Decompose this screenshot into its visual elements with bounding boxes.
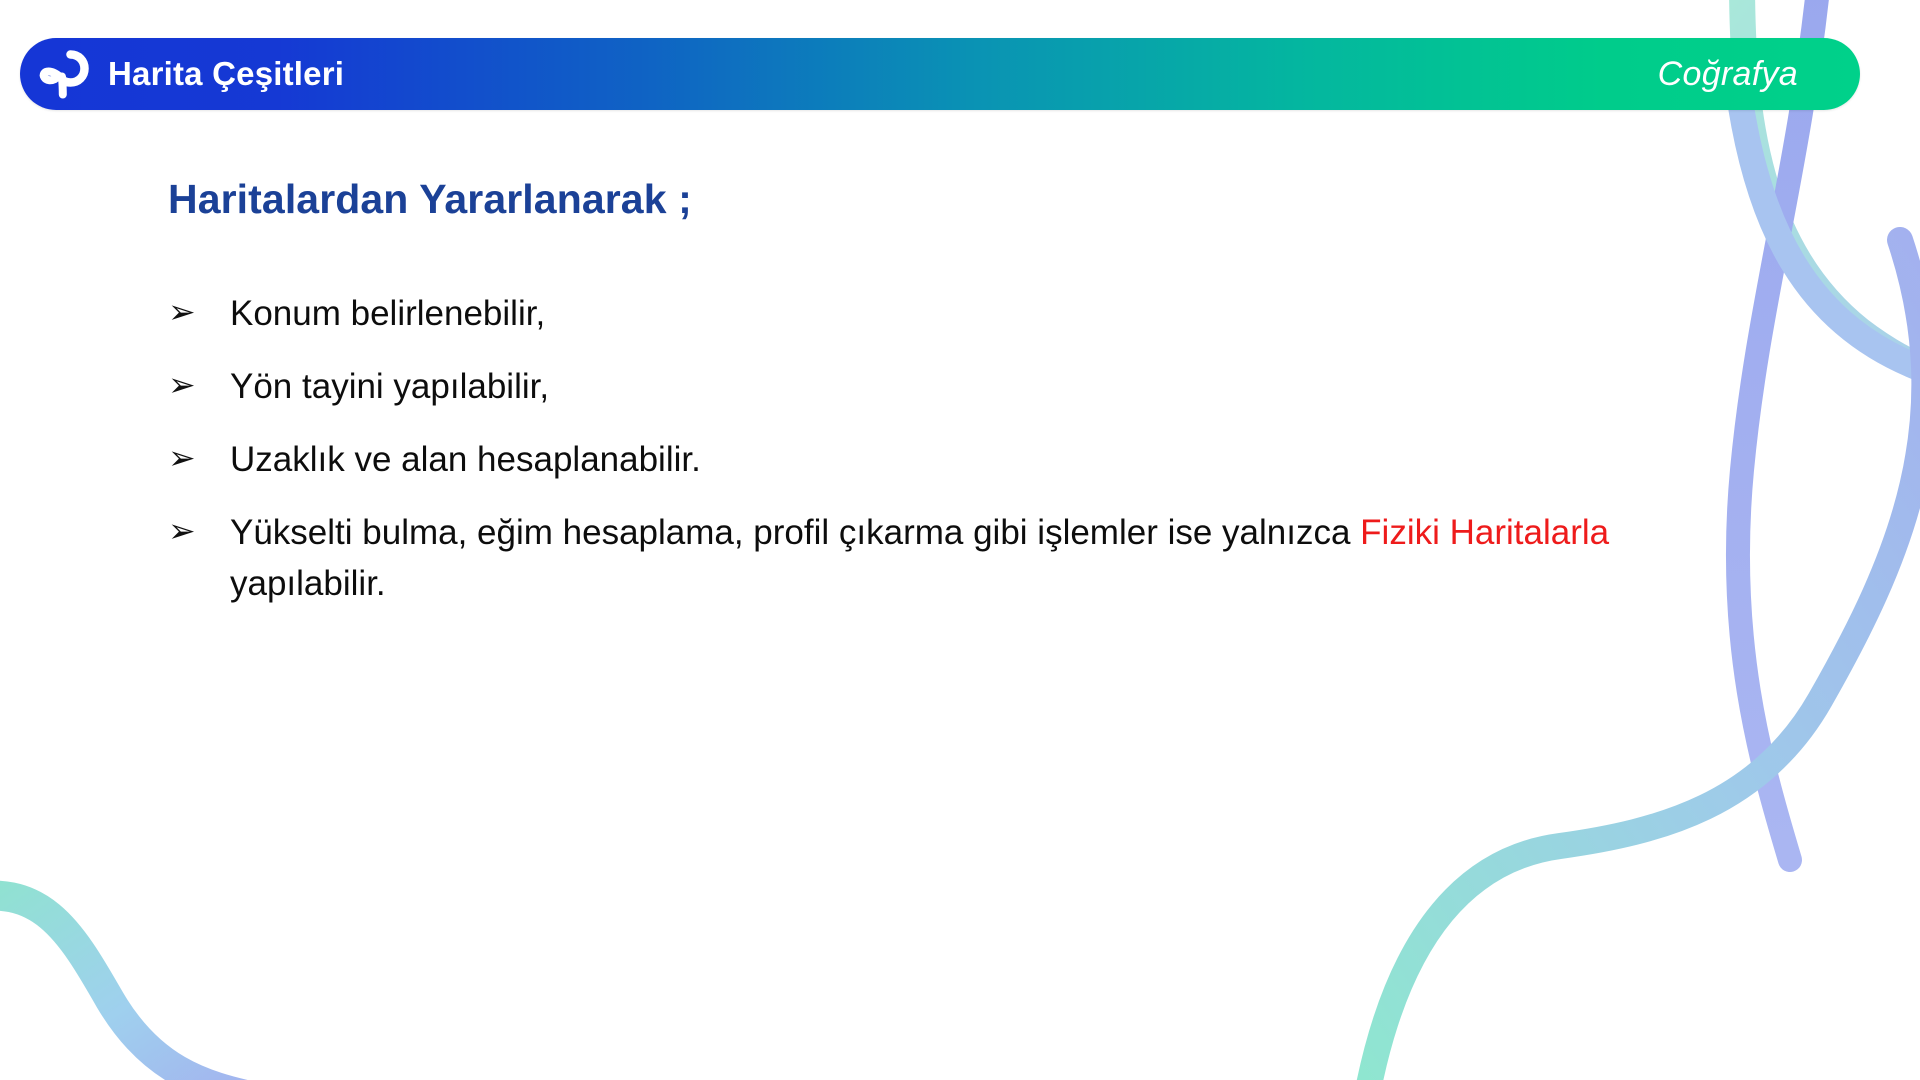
list-item: ➢Uzaklık ve alan hesaplanabilir.: [168, 434, 1758, 485]
bullet-arrow-icon: ➢: [168, 434, 230, 482]
text-run: Yükselti bulma, eğim hesaplama, profil ç…: [230, 513, 1360, 552]
list-item: ➢Yön tayini yapılabilir,: [168, 361, 1758, 412]
slide-content: Haritalardan Yararlanarak ; ➢Konum belir…: [0, 0, 1920, 1080]
list-item-text: Konum belirlenebilir,: [230, 288, 1758, 339]
list-item: ➢Konum belirlenebilir,: [168, 288, 1758, 339]
list-item: ➢Yükselti bulma, eğim hesaplama, profil …: [168, 507, 1758, 609]
text-run: Konum belirlenebilir,: [230, 294, 545, 333]
page-title: Harita Çeşitleri: [108, 55, 344, 93]
text-run: Yön tayini yapılabilir,: [230, 367, 549, 406]
text-run: Uzaklık ve alan hesaplanabilir.: [230, 440, 701, 479]
pikbest-p-logo-icon: [37, 47, 91, 101]
subject-label: Coğrafya: [1658, 55, 1860, 94]
slide-canvas: Harita Çeşitleri Coğrafya Haritalardan Y…: [0, 0, 1920, 1080]
list-item-text: Yükselti bulma, eğim hesaplama, profil ç…: [230, 507, 1758, 609]
brand-logo: [20, 38, 108, 110]
text-run: yapılabilir.: [230, 564, 386, 603]
section-heading: Haritalardan Yararlanarak ;: [168, 176, 692, 223]
list-item-text: Yön tayini yapılabilir,: [230, 361, 1758, 412]
bullet-arrow-icon: ➢: [168, 361, 230, 409]
list-item-text: Uzaklık ve alan hesaplanabilir.: [230, 434, 1758, 485]
highlighted-term: Fiziki Haritalarla: [1360, 513, 1609, 552]
slide-header-bar: Harita Çeşitleri Coğrafya: [20, 38, 1860, 110]
bullet-arrow-icon: ➢: [168, 288, 230, 336]
bullet-list: ➢Konum belirlenebilir,➢Yön tayini yapıla…: [168, 288, 1758, 609]
bullet-arrow-icon: ➢: [168, 507, 230, 555]
